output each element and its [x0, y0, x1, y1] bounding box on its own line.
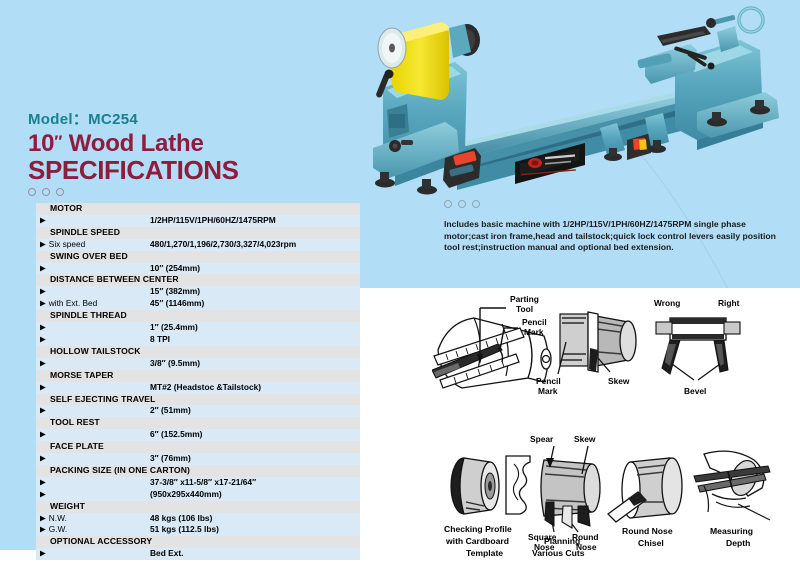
spec-category-label: SWING OVER BED — [36, 251, 360, 263]
label-mark-2: Mark — [538, 386, 558, 396]
checking-profile-diagram — [451, 456, 530, 514]
spec-category-row: PACKING SIZE (IN ONE CARTON) — [36, 465, 360, 477]
triangle-right-icon: ▶ — [40, 298, 46, 310]
label-pencil-1: Pencil — [522, 317, 547, 327]
triangle-right-icon: ▶ — [40, 238, 46, 250]
spec-value-text: Bed Ext. — [148, 548, 360, 560]
diagram-row-upper: Parting Tool Pencil Mark Pencil Mark Ske… — [432, 292, 792, 400]
spec-category-row: HOLLOW TAILSTOCK — [36, 346, 360, 358]
specifications-table: MOTOR▶1/2HP/115V/1PH/60HZ/1475RPMSPINDLE… — [36, 203, 360, 560]
spec-category-row: OPTIONAL ACCESSORY — [36, 536, 360, 548]
triangle-right-icon: ▶ — [40, 453, 46, 465]
triangle-right-icon: ▶ — [40, 333, 46, 345]
spec-value-name: ▶ — [36, 405, 148, 417]
spec-value-text: 15″ (382mm) — [148, 286, 360, 298]
spec-value-name: ▶ — [36, 263, 148, 275]
spec-value-text: 51 kgs (112.5 lbs) — [148, 524, 360, 536]
caption-round-nose-2: Chisel — [638, 538, 664, 548]
spec-category-label: HOLLOW TAILSTOCK — [36, 346, 360, 358]
triangle-right-icon: ▶ — [40, 488, 46, 500]
spec-category-label: SELF EJECTING TRAVEL — [36, 394, 360, 406]
spec-value-text: 3/8″ (9.5mm) — [148, 358, 360, 370]
label-skew-2: Skew — [574, 434, 596, 444]
spec-value-text: 2″ (51mm) — [148, 405, 360, 417]
label-mark-1: Mark — [524, 327, 544, 337]
spec-category-label: MORSE TAPER — [36, 370, 360, 382]
title-size: 10 — [28, 130, 54, 157]
spec-value-name: ▶Six speed — [36, 239, 148, 251]
triangle-right-icon: ▶ — [40, 262, 46, 274]
spec-category-label: SPINDLE THREAD — [36, 310, 360, 322]
bevel-wrong-right-diagram — [656, 318, 740, 380]
spec-value-row: ▶8 TPI — [36, 334, 360, 346]
spec-value-text: 1/2HP/115V/1PH/60HZ/1475RPM — [148, 215, 360, 227]
spec-value-row: ▶10″ (254mm) — [36, 263, 360, 275]
spec-value-text: 3″ (76mm) — [148, 453, 360, 465]
title-block: Model：MC254 10″ Wood Lathe SPECIFICATION… — [28, 108, 348, 196]
circle-outline-icon — [42, 188, 50, 196]
spec-value-row: ▶1″ (25.4mm) — [36, 322, 360, 334]
inch-mark-icon: ″ — [54, 132, 62, 151]
spec-value-name: ▶ — [36, 215, 148, 227]
spec-value-row: ▶15″ (382mm) — [36, 286, 360, 298]
measuring-depth-diagram — [694, 451, 770, 520]
spec-value-row: ▶with Ext. Bed45″ (1146mm) — [36, 298, 360, 310]
description-dots-decoration — [444, 200, 480, 208]
spec-value-text: 1″ (25.4mm) — [148, 322, 360, 334]
triangle-right-icon: ▶ — [40, 548, 46, 560]
spec-value-text: 8 TPI — [148, 334, 360, 346]
title-product: Wood Lathe — [69, 130, 204, 157]
label-spear: Spear — [530, 434, 554, 444]
spec-value-name: ▶N.W. — [36, 513, 148, 525]
circle-outline-icon — [472, 200, 480, 208]
spec-value-name: ▶G.W. — [36, 524, 148, 536]
spec-value-row: ▶N.W.48 kgs (106 lbs) — [36, 513, 360, 525]
caption-planning-2: Various Cuts — [532, 548, 585, 558]
spec-category-row: DISTANCE BETWEEN CENTER — [36, 274, 360, 286]
triangle-right-icon: ▶ — [40, 524, 46, 536]
spec-value-row: ▶MT#2 (Headstoc &Tailstock) — [36, 382, 360, 394]
caption-profile-1: Checking Profile — [444, 524, 512, 534]
spec-value-row: ▶G.W.51 kgs (112.5 lbs) — [36, 524, 360, 536]
page-subtitle: SPECIFICATIONS — [28, 157, 348, 183]
circle-outline-icon — [28, 188, 36, 196]
triangle-right-icon: ▶ — [40, 512, 46, 524]
description-text: Includes basic machine with 1/2HP/115V/1… — [444, 219, 784, 254]
spec-category-label: FACE PLATE — [36, 441, 360, 453]
spec-value-name: ▶with Ext. Bed — [36, 298, 148, 310]
label-bevel: Bevel — [684, 386, 706, 396]
model-line: Model：MC254 — [28, 108, 348, 129]
wood-lathe-product-photo — [345, 0, 800, 198]
spec-category-label: WEIGHT — [36, 501, 360, 513]
spec-value-row: ▶1/2HP/115V/1PH/60HZ/1475RPM — [36, 215, 360, 227]
spec-value-row: ▶Six speed480/1,270/1,196/2,730/3,327/4,… — [36, 239, 360, 251]
caption-measuring-2: Depth — [726, 538, 750, 548]
header-dots-decoration — [28, 188, 348, 196]
spec-category-row: MOTOR — [36, 203, 360, 215]
spec-value-row: ▶6″ (152.5mm) — [36, 429, 360, 441]
spec-category-label: TOOL REST — [36, 417, 360, 429]
label-right: Right — [718, 298, 740, 308]
spec-value-text: 48 kgs (106 lbs) — [148, 513, 360, 525]
spec-category-row: WEIGHT — [36, 501, 360, 513]
spec-value-row: ▶3″ (76mm) — [36, 453, 360, 465]
spec-category-label: PACKING SIZE (IN ONE CARTON) — [36, 465, 360, 477]
spec-value-text: (950x295x440mm) — [148, 489, 360, 501]
spec-value-name: ▶ — [36, 322, 148, 334]
caption-measuring-1: Measuring — [710, 526, 753, 536]
caption-profile-2: with Cardboard — [445, 536, 509, 546]
page-title: 10″ Wood Lathe — [28, 132, 348, 157]
triangle-right-icon: ▶ — [40, 214, 46, 226]
caption-round-nose-1: Round Nose — [622, 526, 673, 536]
spec-value-text: MT#2 (Headstoc &Tailstock) — [148, 382, 360, 394]
diagram-row-lower: Checking Profile with Cardboard Template… — [432, 428, 792, 560]
planning-various-cuts-diagram — [541, 446, 600, 532]
label-wrong: Wrong — [654, 298, 680, 308]
spec-category-label: SPINDLE SPEED — [36, 227, 360, 239]
spec-value-row: ▶3/8″ (9.5mm) — [36, 358, 360, 370]
triangle-right-icon: ▶ — [40, 429, 46, 441]
spec-value-row: ▶Bed Ext. — [36, 548, 360, 560]
spec-category-row: FACE PLATE — [36, 441, 360, 453]
spec-value-text: 10″ (254mm) — [148, 263, 360, 275]
spec-category-row: TOOL REST — [36, 417, 360, 429]
circle-outline-icon — [458, 200, 466, 208]
label-pencil-2: Pencil — [536, 376, 561, 386]
circle-outline-icon — [56, 188, 64, 196]
spec-value-row: ▶(950x295x440mm) — [36, 489, 360, 501]
spec-category-row: MORSE TAPER — [36, 370, 360, 382]
spec-value-name: ▶ — [36, 286, 148, 298]
spec-value-row: ▶37-3/8″ x11-5/8″ x17-21/64″ — [36, 477, 360, 489]
caption-profile-3: Template — [466, 548, 503, 558]
label-parting: Parting — [510, 294, 539, 304]
spec-value-name: ▶ — [36, 382, 148, 394]
triangle-right-icon: ▶ — [40, 357, 46, 369]
spec-value-name: ▶ — [36, 477, 148, 489]
spec-category-label: DISTANCE BETWEEN CENTER — [36, 274, 360, 286]
spec-value-name: ▶ — [36, 548, 148, 560]
spec-value-name: ▶ — [36, 358, 148, 370]
caption-planning: Planning — [544, 536, 580, 546]
circle-outline-icon — [444, 200, 452, 208]
spec-category-label: OPTIONAL ACCESSORY — [36, 536, 360, 548]
spec-value-text: 480/1,270/1,196/2,730/3,327/4,023rpm — [148, 239, 360, 251]
spec-value-text: 37-3/8″ x11-5/8″ x17-21/64″ — [148, 477, 360, 489]
label-skew-1: Skew — [608, 376, 630, 386]
triangle-right-icon: ▶ — [40, 405, 46, 417]
round-nose-chisel-diagram — [608, 458, 682, 522]
spec-value-name: ▶ — [36, 489, 148, 501]
spec-category-row: SPINDLE SPEED — [36, 227, 360, 239]
skew-cut-diagram — [558, 312, 636, 374]
spec-value-text: 45″ (1146mm) — [148, 298, 360, 310]
spec-category-label: MOTOR — [36, 203, 360, 215]
triangle-right-icon: ▶ — [40, 322, 46, 334]
spec-category-row: SELF EJECTING TRAVEL — [36, 394, 360, 406]
triangle-right-icon: ▶ — [40, 286, 46, 298]
triangle-right-icon: ▶ — [40, 476, 46, 488]
label-tool: Tool — [516, 304, 533, 314]
model-label: Model： — [28, 111, 88, 128]
spec-value-name: ▶ — [36, 429, 148, 441]
spec-category-row: SPINDLE THREAD — [36, 310, 360, 322]
triangle-right-icon: ▶ — [40, 381, 46, 393]
spec-value-row: ▶2″ (51mm) — [36, 405, 360, 417]
spec-value-name: ▶ — [36, 334, 148, 346]
spec-category-row: SWING OVER BED — [36, 251, 360, 263]
model-value: MC254 — [88, 111, 138, 128]
spec-value-name: ▶ — [36, 453, 148, 465]
spec-value-text: 6″ (152.5mm) — [148, 429, 360, 441]
